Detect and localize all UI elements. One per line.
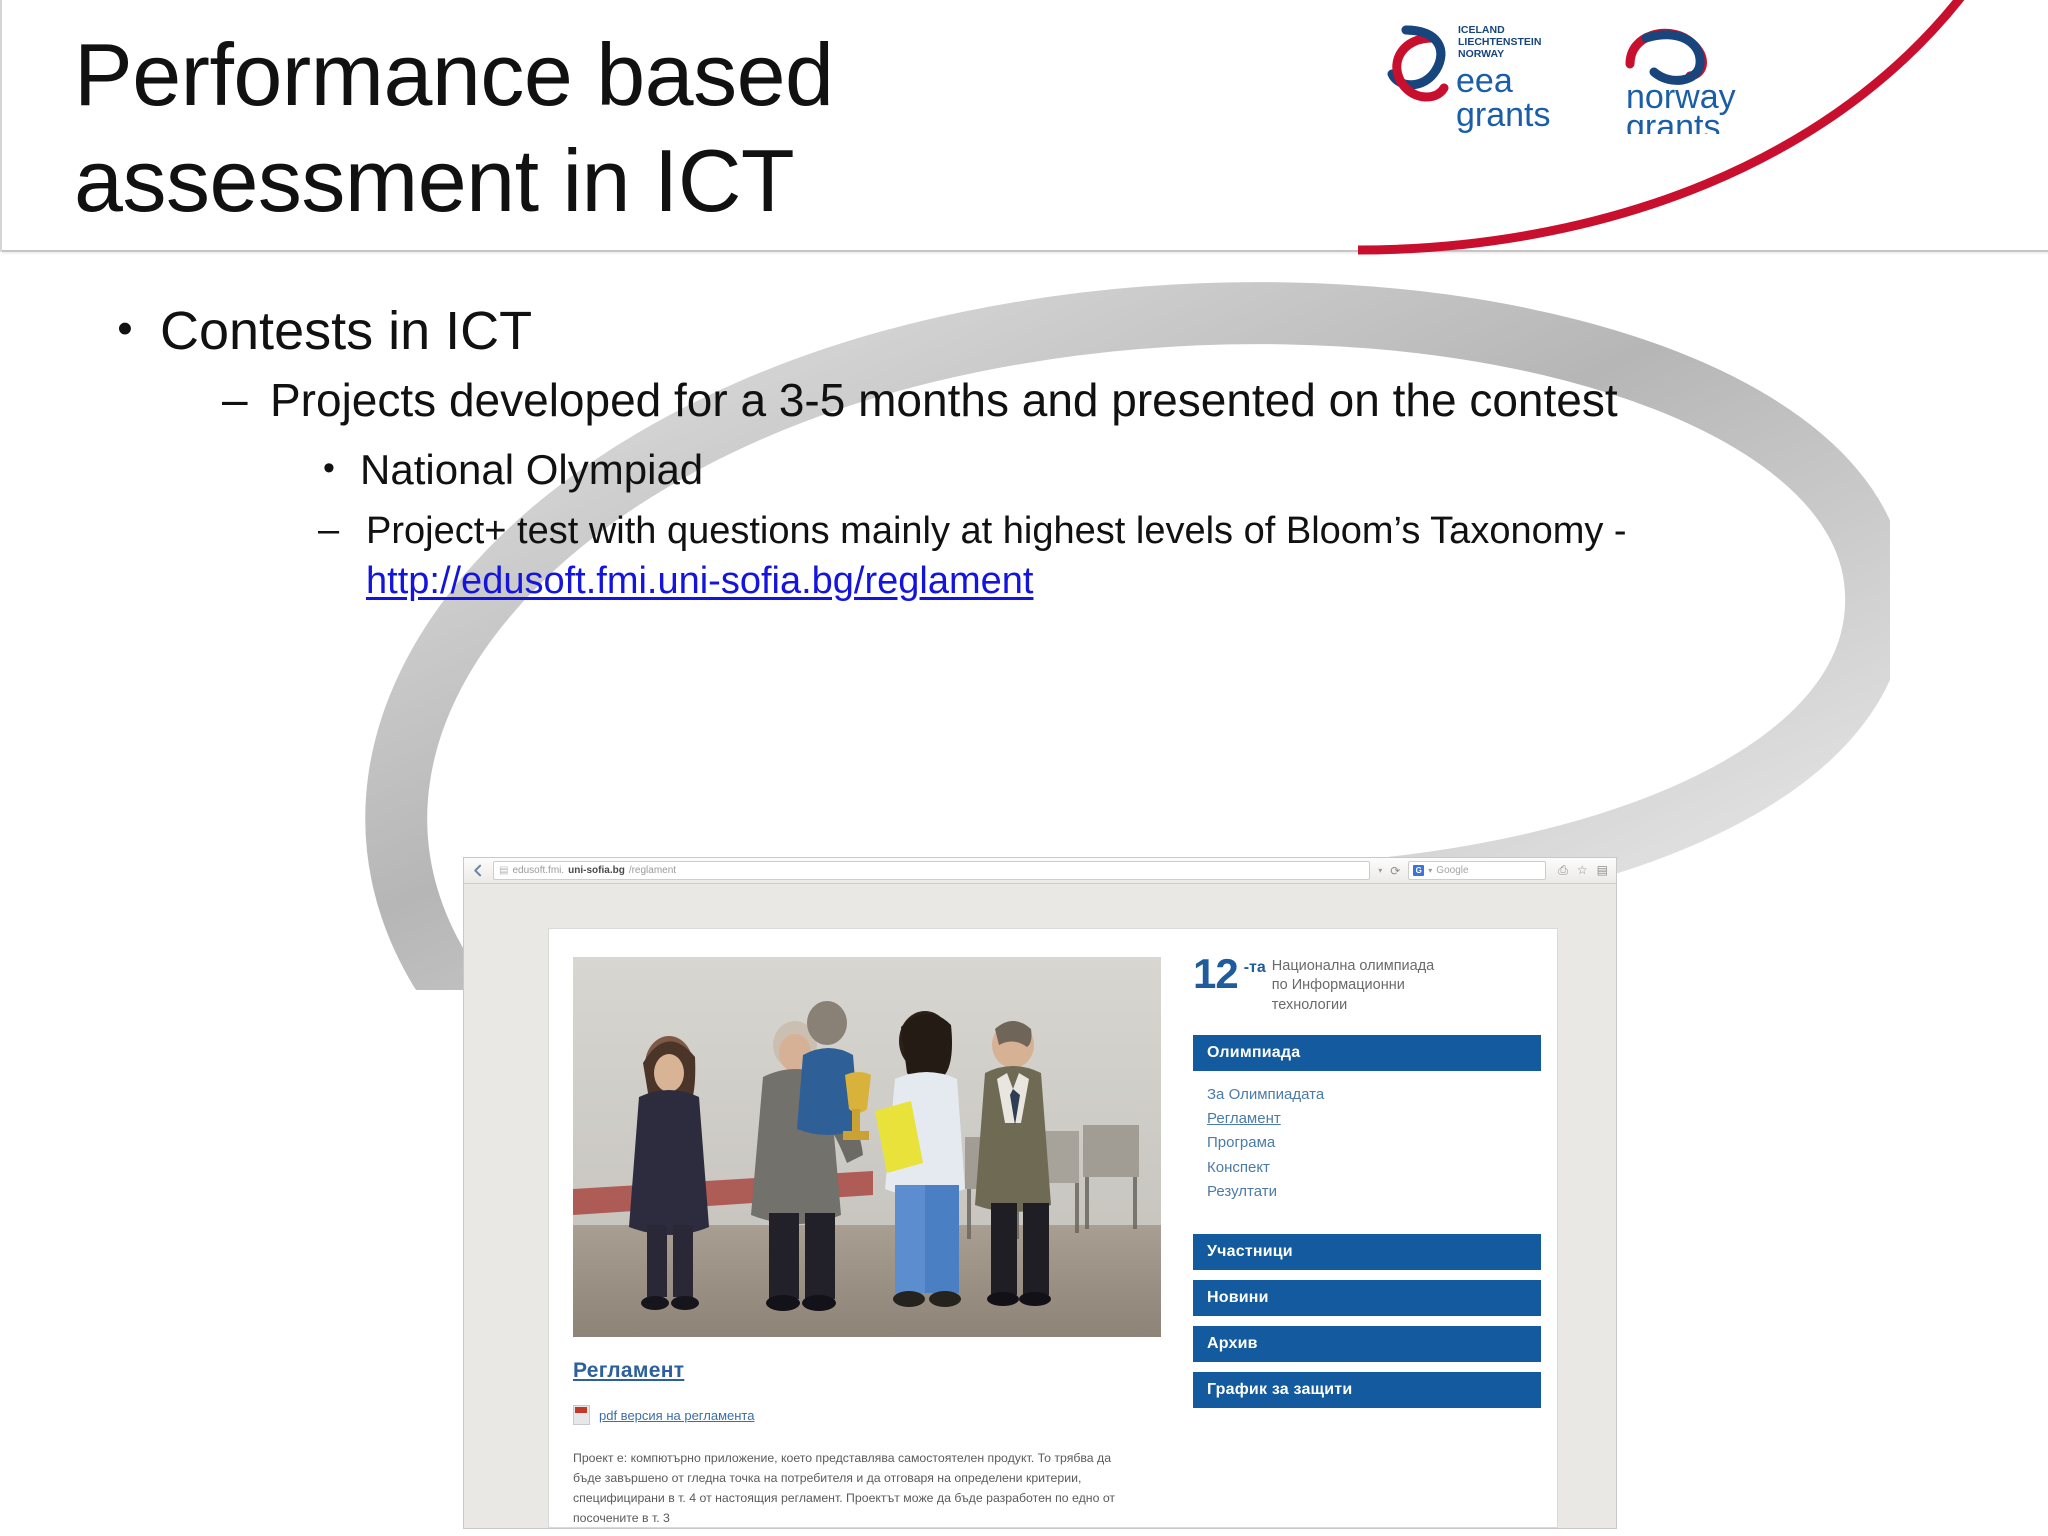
sidebar-section-schedule[interactable]: График за защити: [1193, 1372, 1541, 1408]
norway-word-grants: grants: [1626, 108, 1721, 134]
website-page: Регламент pdf версия на регламента Проек…: [548, 928, 1558, 1528]
reglament-url-link[interactable]: http://edusoft.fmi.uni-sofia.bg/reglamen…: [366, 560, 1033, 602]
sidebar-section-participants[interactable]: Участници: [1193, 1234, 1541, 1270]
url-host: uni-sofia.bg: [568, 865, 625, 876]
site-brand: 12 -та Национална олимпиада по Информаци…: [1193, 955, 1541, 1015]
bullet-marker-dot-icon: •: [112, 300, 138, 358]
pdf-version-link[interactable]: pdf версия на регламента: [599, 1408, 754, 1423]
eea-grants-logo-svg: ICELAND LIECHTENSTEIN NORWAY eea grants: [1386, 16, 1568, 134]
sidebar-item-konspekt[interactable]: Конспект: [1207, 1156, 1541, 1180]
bullet-level2-text: Projects developed for a 3-5 months and …: [270, 371, 1618, 431]
bullet-level4-text: Project+ test with questions mainly at h…: [366, 507, 1886, 606]
page-title-line2: assessment in ICT: [74, 128, 1274, 234]
toolbar-icon-group: ⎙ ☆ ▤: [1554, 863, 1608, 878]
sidebar-nav-list: За Олимпиадата Регламент Програма Конспе…: [1193, 1071, 1541, 1214]
bullet-level4-prefix: Project+ test with questions mainly at h…: [366, 510, 1627, 552]
website-sidebar: 12 -та Национална олимпиада по Информаци…: [1185, 929, 1557, 1527]
content-heading: Регламент: [573, 1359, 1185, 1383]
search-placeholder: Google: [1436, 865, 1468, 876]
eea-word-grants: grants: [1456, 96, 1551, 134]
embedded-browser-screenshot: ▤ edusoft.fmi.uni-sofia.bg/reglament ▾ ⟳…: [464, 858, 1616, 1528]
brand-number: 12: [1193, 955, 1238, 994]
pdf-file-icon: [573, 1405, 590, 1425]
content-paragraph: Проект е: компютърно приложение, което п…: [573, 1449, 1139, 1528]
eea-country-iceland: ICELAND: [1458, 24, 1505, 36]
award-ceremony-photo: [573, 957, 1161, 1337]
search-bar[interactable]: G ▾ Google: [1408, 861, 1546, 880]
brand-title: Национална олимпиада по Информационни те…: [1272, 957, 1434, 1015]
sidebar-section-news[interactable]: Новини: [1193, 1280, 1541, 1316]
search-engine-chevron-icon[interactable]: ▾: [1428, 866, 1432, 875]
pdf-link-row[interactable]: pdf версия на регламента: [573, 1405, 1185, 1425]
sidebar-section-archive[interactable]: Архив: [1193, 1326, 1541, 1362]
page-title: Performance based assessment in ICT: [74, 22, 1274, 233]
print-icon[interactable]: ⎙: [1558, 863, 1568, 878]
page-title-line1: Performance based: [74, 22, 1274, 128]
google-icon: G: [1413, 865, 1424, 876]
website-content-column: Регламент pdf версия на регламента Проек…: [549, 929, 1185, 1527]
slide-canvas: Performance based assessment in ICT ICEL…: [0, 0, 2048, 1536]
eea-knot-icon: [1392, 30, 1444, 97]
norway-grants-logo: norway grants: [1620, 16, 1780, 139]
award-ceremony-photo-svg: [573, 957, 1161, 1337]
browser-blank-bar: [464, 884, 1616, 906]
brand-suffix: -та: [1244, 959, 1266, 977]
sidebar-section-olympiad[interactable]: Олимпиада: [1193, 1035, 1541, 1071]
site-identity-icon: ▤: [499, 865, 508, 876]
bullet-level1: • Contests in ICT: [112, 300, 2048, 363]
eea-word-eea: eea: [1456, 62, 1513, 100]
eea-grants-logo: ICELAND LIECHTENSTEIN NORWAY eea grants: [1386, 16, 1568, 139]
norway-grants-logo-svg: norway grants: [1620, 16, 1780, 134]
logo-group: ICELAND LIECHTENSTEIN NORWAY eea grants …: [1386, 16, 1780, 139]
url-suffix: /reglament: [629, 865, 676, 876]
bullet-level2: – Projects developed for a 3-5 months an…: [222, 371, 2048, 431]
bullet-marker-dash-icon: –: [318, 507, 344, 555]
bullet-level3: • National Olympiad: [318, 444, 2048, 497]
bullet-level1-text: Contests in ICT: [160, 300, 532, 363]
menu-icon[interactable]: ▤: [1597, 863, 1608, 878]
bullet-level4: – Project+ test with questions mainly at…: [318, 507, 2048, 606]
url-prefix: edusoft.fmi.: [512, 865, 564, 876]
sidebar-item-about[interactable]: За Олимпиадата: [1207, 1083, 1541, 1107]
brand-title-line2: по Информационни: [1272, 977, 1405, 993]
bookmark-star-icon[interactable]: ☆: [1577, 863, 1588, 878]
address-bar[interactable]: ▤ edusoft.fmi.uni-sofia.bg/reglament: [493, 861, 1370, 880]
brand-title-line3: технологии: [1272, 997, 1347, 1013]
sidebar-item-reglament[interactable]: Регламент: [1207, 1107, 1541, 1131]
bullet-level3-text: National Olympiad: [360, 444, 703, 497]
brand-title-line1: Национална олимпиада: [1272, 958, 1434, 974]
bullet-marker-dot-icon: •: [318, 444, 340, 493]
sidebar-item-rezultati[interactable]: Резултати: [1207, 1180, 1541, 1204]
slide-body: • Contests in ICT – Projects developed f…: [0, 300, 2048, 606]
back-arrow-icon[interactable]: [472, 864, 485, 877]
bullet-marker-dash-icon: –: [222, 371, 250, 427]
eea-country-liechtenstein: LIECHTENSTEIN: [1458, 36, 1541, 48]
norway-knot-icon: [1630, 33, 1703, 80]
chevron-down-icon[interactable]: ▾: [1378, 866, 1382, 875]
eea-country-norway: NORWAY: [1458, 48, 1504, 60]
browser-toolbar: ▤ edusoft.fmi.uni-sofia.bg/reglament ▾ ⟳…: [464, 858, 1616, 884]
sidebar-item-programa[interactable]: Програма: [1207, 1131, 1541, 1155]
reload-icon[interactable]: ⟳: [1390, 864, 1400, 878]
